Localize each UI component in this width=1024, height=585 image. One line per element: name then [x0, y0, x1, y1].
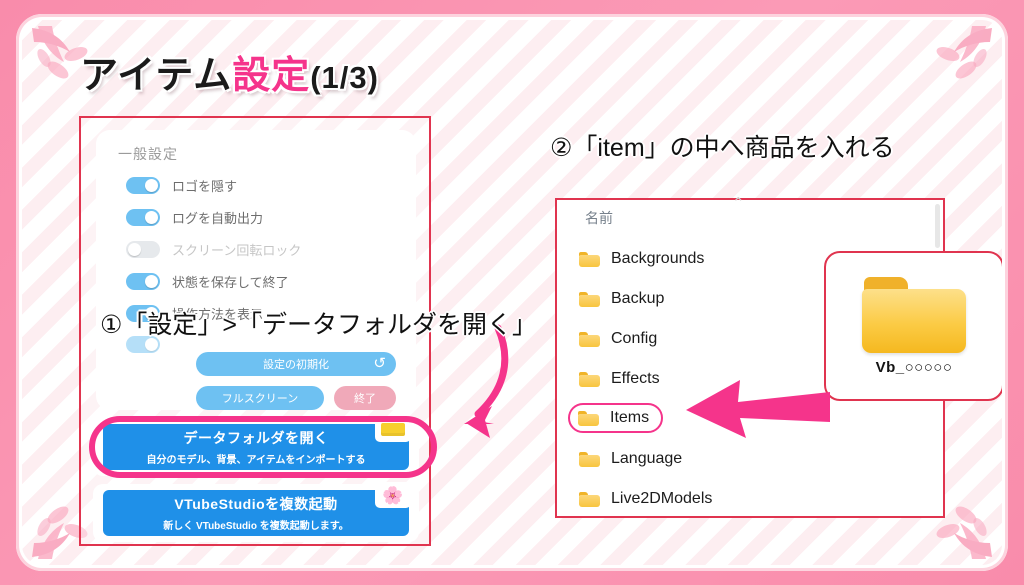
multi-instance-sublabel: 新しく VTubeStudio を複数起動します。 — [163, 517, 348, 532]
folder-icon — [579, 252, 600, 267]
folder-callout-card: Vb_○○○○○ — [824, 251, 1002, 401]
launch-multiple-vtubestudio-button[interactable]: VTubeStudioを複数起動 新しく VTubeStudio を複数起動しま… — [103, 490, 409, 536]
file-name: Backup — [611, 290, 664, 308]
file-name: Effects — [611, 370, 660, 388]
column-header-name: 名前 — [585, 208, 613, 228]
chevron-up-icon: ⌃ — [732, 194, 745, 212]
toggle-auto-log[interactable] — [126, 209, 160, 226]
setting-row-auto-log[interactable]: ログを自動出力 — [126, 208, 263, 227]
file-name: Backgrounds — [611, 250, 704, 268]
setting-row-save-state-on-quit[interactable]: 状態を保存して終了 — [126, 272, 289, 291]
folder-icon — [579, 372, 600, 387]
fullscreen-button[interactable]: フルスクリーン — [196, 386, 324, 410]
file-name: Items — [610, 409, 649, 427]
step-1-caption: ①「設定」>「データフォルダを開く」 — [100, 305, 537, 341]
file-row-items[interactable]: Items — [568, 403, 663, 433]
multi-instance-label: VTubeStudioを複数起動 — [174, 494, 337, 514]
page-title-counter: (1/3) — [310, 60, 379, 95]
setting-label: スクリーン回転ロック — [172, 240, 301, 259]
file-name: Config — [611, 330, 657, 348]
reset-arrow-icon: ↺ — [373, 355, 386, 373]
quit-button[interactable]: 終了 — [334, 386, 396, 410]
decorative-frame: アイテム設定(1/3) 一般設定 ロゴを隠す ログを自動出力 スクリーン回転ロッ… — [0, 0, 1024, 585]
petal-icon: 🌸 — [375, 482, 411, 508]
quit-label: 終了 — [354, 390, 376, 406]
page-title-main: アイテム — [80, 55, 232, 97]
callout-folder-name: Vb_○○○○○ — [876, 359, 953, 376]
toggle-screen-rotation-lock[interactable] — [126, 241, 160, 258]
folder-icon — [579, 332, 600, 347]
data-folder-highlight-ring — [89, 416, 437, 478]
folder-icon — [578, 411, 599, 426]
toggle-save-state-on-quit[interactable] — [126, 273, 160, 290]
folder-icon — [579, 452, 600, 467]
setting-label: 状態を保存して終了 — [172, 272, 289, 291]
general-settings-card: 一般設定 ロゴを隠す ログを自動出力 スクリーン回転ロック 状態を保存して終了 — [96, 130, 416, 410]
folder-icon — [579, 292, 600, 307]
reset-settings-button[interactable]: 設定の初期化 ↺ — [196, 352, 396, 376]
setting-label: ロゴを隠す — [172, 176, 237, 195]
file-row-effects[interactable]: Effects — [571, 364, 672, 394]
corner-flourish-icon — [910, 24, 996, 110]
file-name: Language — [611, 450, 682, 468]
file-row-language[interactable]: Language — [571, 444, 694, 474]
page-title-accent: 設定 — [232, 55, 310, 97]
fullscreen-label: フルスクリーン — [222, 390, 298, 406]
file-row-live2dmodels[interactable]: Live2DModels — [571, 484, 724, 514]
explorer-scrollbar[interactable] — [935, 204, 940, 248]
toggle-hide-logo[interactable] — [126, 177, 160, 194]
file-row-config[interactable]: Config — [571, 324, 669, 354]
general-settings-heading: 一般設定 — [118, 144, 178, 164]
reset-settings-label: 設定の初期化 — [263, 356, 329, 372]
setting-row-screen-rotation-lock[interactable]: スクリーン回転ロック — [126, 240, 301, 259]
multi-instance-wrapper: VTubeStudioを複数起動 新しく VTubeStudio を複数起動しま… — [93, 484, 419, 542]
file-row-backgrounds[interactable]: Backgrounds — [571, 244, 716, 274]
file-name: Live2DModels — [611, 490, 712, 508]
folder-icon — [579, 492, 600, 507]
slide-stage: アイテム設定(1/3) 一般設定 ロゴを隠す ログを自動出力 スクリーン回転ロッ… — [22, 20, 1002, 565]
left-arrow-icon — [682, 378, 830, 450]
setting-row-hide-logo[interactable]: ロゴを隠す — [126, 176, 237, 195]
page-title: アイテム設定(1/3) — [80, 44, 379, 99]
folder-icon — [862, 277, 966, 353]
step-2-caption: ②「item」の中へ商品を入れる — [550, 128, 895, 164]
file-row-backup[interactable]: Backup — [571, 284, 676, 314]
setting-label: ログを自動出力 — [172, 208, 263, 227]
folder-name-prefix: Vb_ — [876, 359, 905, 376]
folder-name-placeholder: ○○○○○ — [905, 359, 953, 376]
